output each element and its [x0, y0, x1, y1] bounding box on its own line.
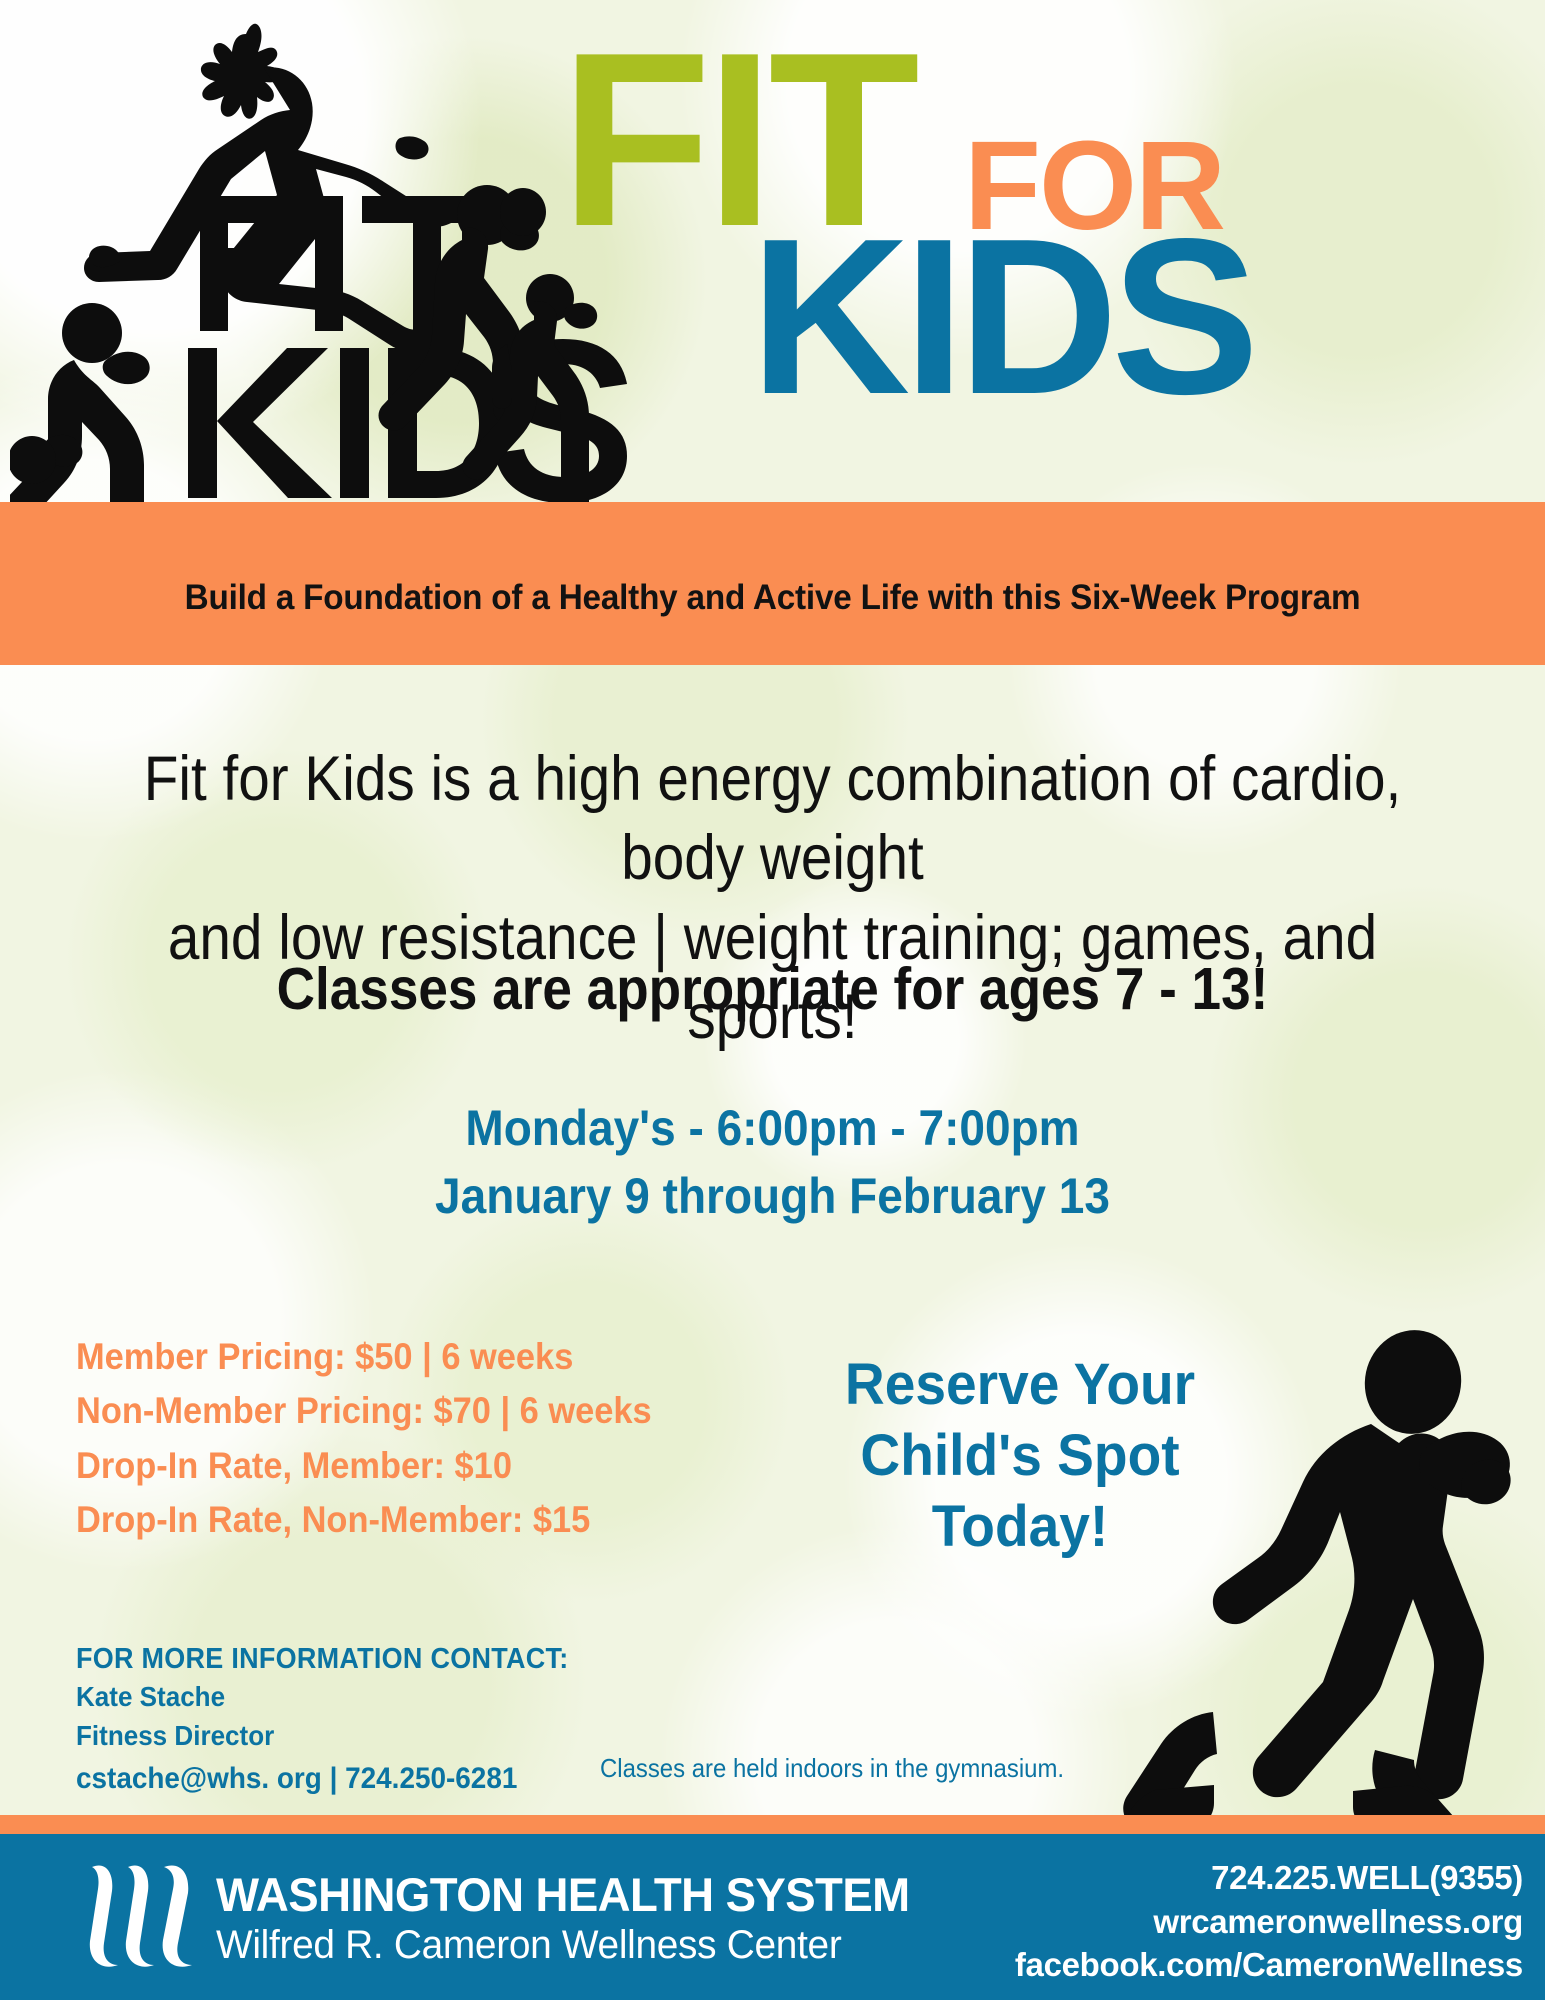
footer-org-sub: Wilfred R. Cameron Wellness Center: [216, 1922, 910, 1969]
footer: WASHINGTON HEALTH SYSTEM Wilfred R. Came…: [0, 1834, 1545, 2000]
footer-website[interactable]: wrcameronwellness.org: [1015, 1900, 1523, 1944]
contact-role: Fitness Director: [76, 1717, 727, 1756]
ages-headline: Classes are appropriate for ages 7 - 13!: [113, 955, 1432, 1023]
tagline-text: Build a Foundation of a Healthy and Acti…: [39, 578, 1507, 618]
tagline-band: Build a Foundation of a Healthy and Acti…: [0, 502, 1545, 665]
schedule-block: Monday's - 6:00pm - 7:00pm January 9 thr…: [99, 1095, 1447, 1230]
pricing-list: Member Pricing: $50 | 6 weeks Non-Member…: [76, 1330, 783, 1548]
contact-heading: FOR MORE INFORMATION CONTACT:: [76, 1640, 727, 1678]
schedule-time: Monday's - 6:00pm - 7:00pm: [99, 1095, 1447, 1163]
intro-line-1: Fit for Kids is a high energy combinatio…: [113, 740, 1432, 899]
pricing-row-dropin-member: Drop-In Rate, Member: $10: [76, 1439, 783, 1493]
washington-health-system-w-logo-icon: [78, 1859, 206, 1971]
footer-org-name: WASHINGTON HEALTH SYSTEM: [216, 1870, 910, 1919]
pricing-row-member: Member Pricing: $50 | 6 weeks: [76, 1330, 783, 1384]
header: FIT FOR KIDS: [0, 0, 1545, 502]
flyer-page: FIT FOR KIDS Build a Foundation of a Hea…: [0, 0, 1545, 2000]
footer-contact-info: 724.225.WELL(9355) wrcameronwellness.org…: [1015, 1856, 1523, 1987]
footer-phone[interactable]: 724.225.WELL(9355): [1015, 1856, 1523, 1900]
fit-kids-logo-artwork: [10, 8, 650, 553]
gymnasium-note: Classes are held indoors in the gymnasiu…: [600, 1753, 1078, 1784]
main-title: FIT FOR KIDS: [560, 38, 1545, 458]
schedule-dates: January 9 through February 13: [99, 1163, 1447, 1231]
title-kids: KIDS: [750, 226, 1252, 408]
running-boy-silhouette: [1095, 1320, 1525, 1830]
pricing-row-dropin-non-member: Drop-In Rate, Non-Member: $15: [76, 1493, 783, 1547]
pricing-row-non-member: Non-Member Pricing: $70 | 6 weeks: [76, 1384, 783, 1438]
leaping-girl-silhouette: [84, 24, 461, 354]
contact-name: Kate Stache: [76, 1678, 727, 1717]
soccer-kid-silhouette: [10, 303, 150, 527]
footer-orange-strip: [0, 1815, 1545, 1834]
footer-facebook[interactable]: facebook.com/CameronWellness: [1015, 1943, 1523, 1987]
footer-org-text: WASHINGTON HEALTH SYSTEM Wilfred R. Came…: [216, 1870, 931, 1970]
